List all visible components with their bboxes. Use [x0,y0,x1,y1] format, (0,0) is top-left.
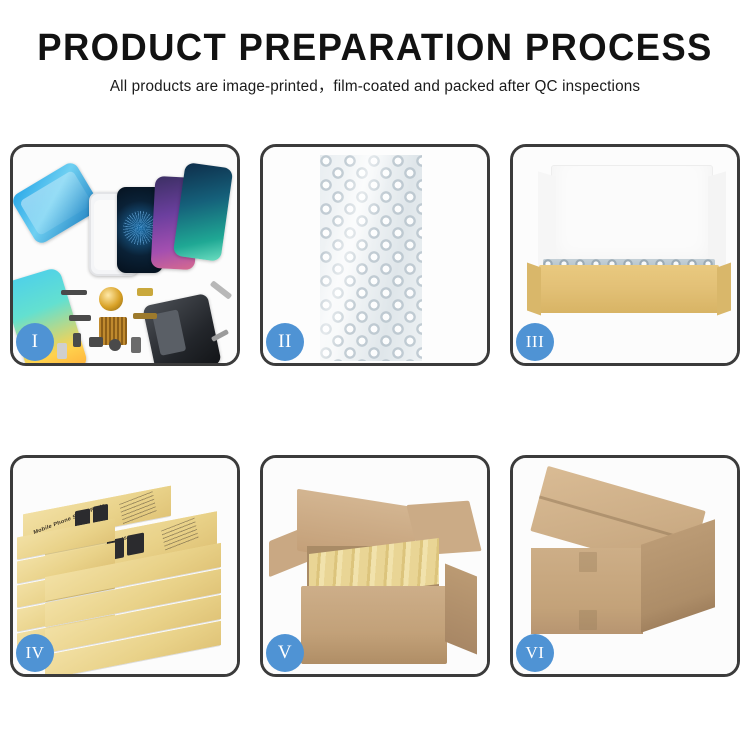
spare-part-icon [137,288,153,296]
spare-part-icon [57,343,67,359]
step-badge-5: V [266,634,304,672]
kraft-inner-box-icon [539,265,719,313]
phone-chassis-icon [142,293,222,366]
step-badge-6: VI [516,634,554,672]
spare-part-icon [133,313,157,319]
step-panel-4[interactable]: Mobile Phone Spare Parts Mobile Phone Sp… [10,455,240,677]
step-panel-1[interactable]: I [10,144,240,366]
carton-side-face-icon [445,564,477,655]
step-badge-1: I [16,323,54,361]
spare-part-icon [73,333,81,347]
spare-part-icon [109,339,121,351]
step-panel-5[interactable]: V [260,455,490,677]
step-badge-4: IV [16,634,54,672]
vibrator-motor-icon [99,287,123,311]
step-badge-2: II [266,323,304,361]
spare-part-icon [89,337,103,347]
page-subtitle: All products are image-printed，film-coat… [6,77,745,97]
step-panel-6[interactable]: VI [510,455,740,677]
bubble-wrap-sheet-icon [320,155,422,361]
product-preparation-page: PRODUCT PREPARATION PROCESS All products… [0,0,750,750]
spare-part-icon [131,337,141,353]
spare-part-icon [61,290,87,295]
step-panel-3[interactable]: III [510,144,740,366]
page-header: PRODUCT PREPARATION PROCESS All products… [0,26,750,97]
carton-front-face-icon [301,586,447,664]
spare-part-icon [69,315,91,321]
carton-front-face-icon [531,548,643,634]
process-steps-grid: I II III [10,144,740,677]
step-panel-2[interactable]: II [260,144,490,366]
page-title: PRODUCT PREPARATION PROCESS [15,26,735,70]
tweezers-icon [210,280,233,300]
step-badge-3: III [516,323,554,361]
